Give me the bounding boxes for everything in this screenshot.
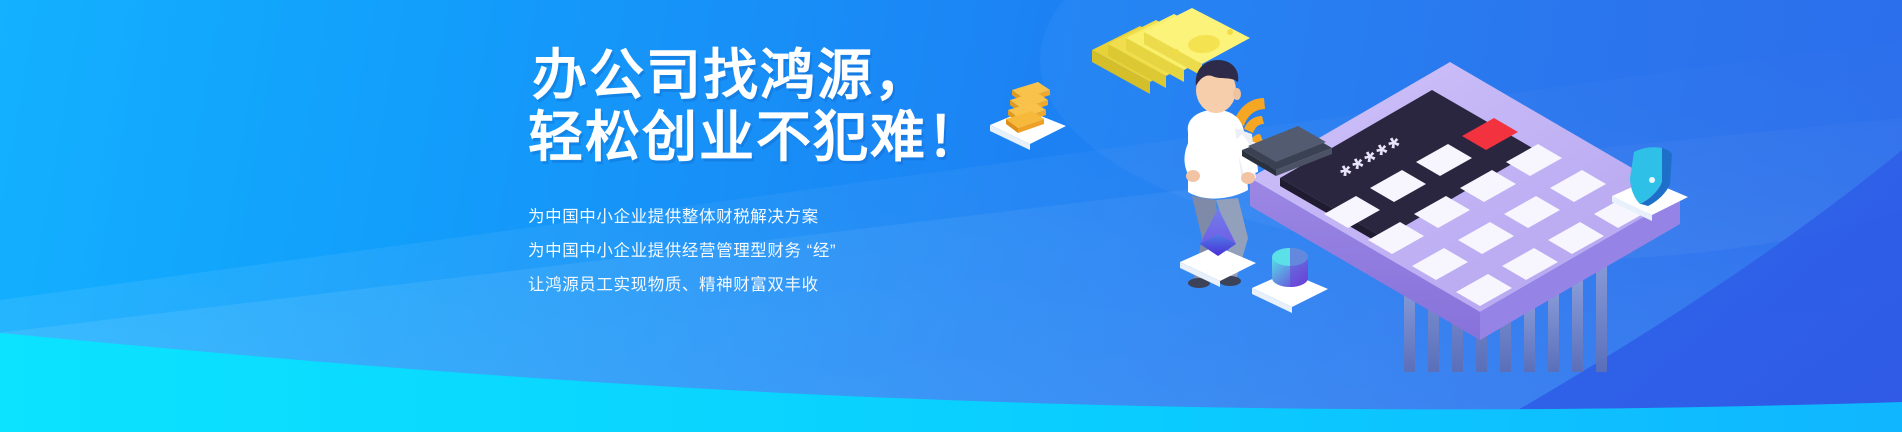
- headline-line-1: 办公司找鸿源，: [528, 44, 1088, 106]
- hero-banner: 办公司找鸿源， 轻松创业不犯难！ 为中国中小企业提供整体财税解决方案 为中国中小…: [0, 0, 1902, 432]
- subtitle-line-3: 让鸿源员工实现物质、精神财富双丰收: [528, 268, 1088, 302]
- hero-illustration: *****: [980, 0, 1720, 432]
- subtitle-line-1: 为中国中小企业提供整体财税解决方案: [528, 200, 1088, 234]
- cylinder-icon: [1252, 248, 1328, 313]
- subtitle-block: 为中国中小企业提供整体财税解决方案 为中国中小企业提供经营管理型财务 “经” 让…: [528, 200, 1088, 302]
- subtitle-line-2: 为中国中小企业提供经营管理型财务 “经”: [528, 234, 1088, 268]
- headline-line-2: 轻松创业不犯难！: [528, 106, 1088, 168]
- hero-copy: 办公司找鸿源， 轻松创业不犯难！ 为中国中小企业提供整体财税解决方案 为中国中小…: [528, 44, 1088, 302]
